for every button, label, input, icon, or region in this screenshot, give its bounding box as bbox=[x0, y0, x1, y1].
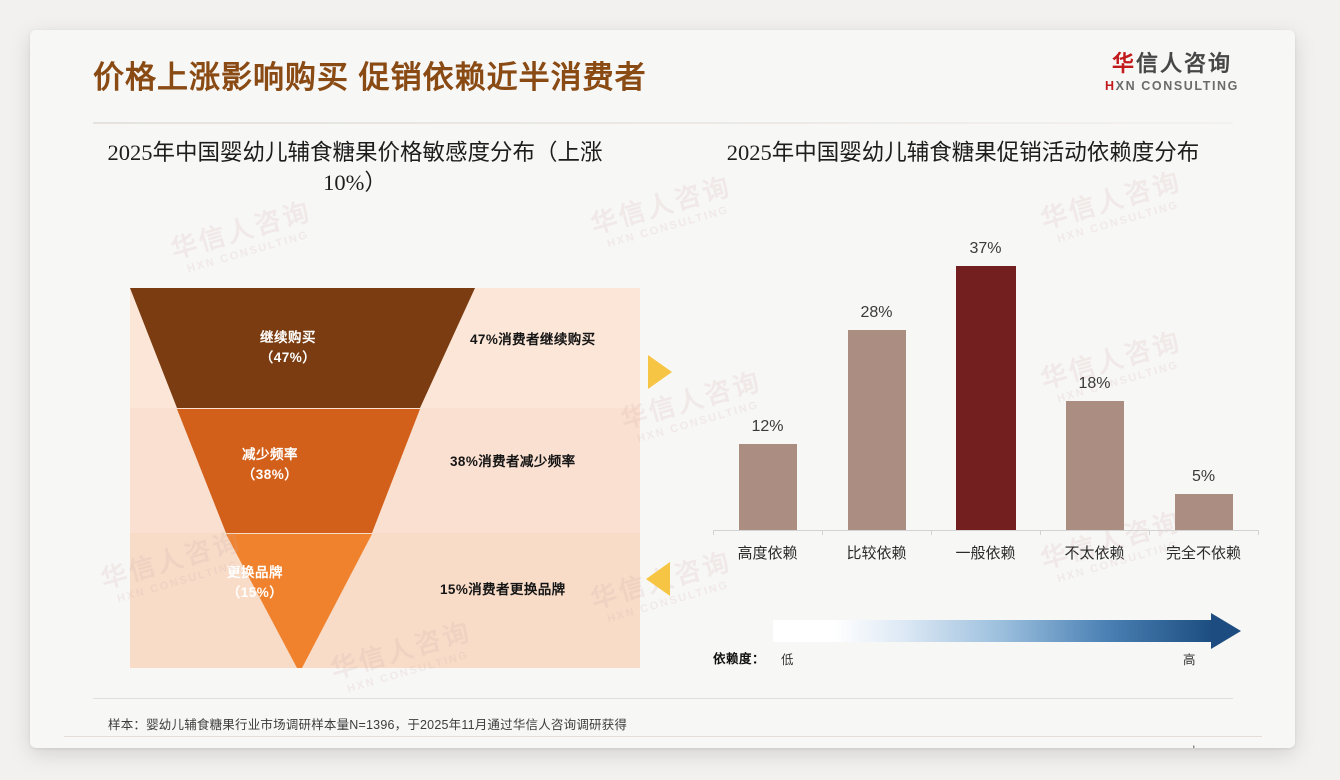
x-axis-tick bbox=[822, 530, 823, 535]
bar-column[interactable]: 28% bbox=[822, 230, 931, 530]
x-axis-tick bbox=[1040, 530, 1041, 535]
x-axis-line bbox=[713, 530, 1258, 531]
bar-不太依赖[interactable] bbox=[1066, 401, 1124, 530]
bar-column[interactable]: 5% bbox=[1149, 230, 1258, 530]
right-chart-title: 2025年中国婴幼儿辅食糖果促销活动依赖度分布 bbox=[658, 138, 1268, 168]
header-divider bbox=[93, 122, 1233, 124]
x-axis-tick bbox=[713, 530, 714, 535]
play-triangle-right-icon bbox=[648, 355, 672, 389]
brand-logo: 华信人咨询 HXN CONSULTING bbox=[1105, 52, 1239, 93]
bar-chart: 12%28%37%18%5% 高度依赖比较依赖一般依赖不太依赖完全不依赖 bbox=[713, 230, 1258, 570]
website-link[interactable]: www.hxrcon.com bbox=[1163, 744, 1257, 748]
footer-divider bbox=[64, 736, 1262, 737]
logo-en-rest: XN CONSULTING bbox=[1116, 79, 1239, 93]
gradient-bar bbox=[773, 620, 1213, 642]
panel-promo-dependence: 2025年中国婴幼儿辅食糖果促销活动依赖度分布 12%28%37%18%5% 高… bbox=[658, 138, 1268, 668]
x-axis-label: 完全不依赖 bbox=[1149, 542, 1258, 563]
slide-header: 价格上涨影响购买 促销依赖近半消费者 华信人咨询 HXN CONSULTING bbox=[30, 30, 1295, 122]
x-axis-label: 高度依赖 bbox=[713, 542, 822, 563]
bar-plot-area: 12%28%37%18%5% bbox=[713, 230, 1258, 530]
bar-value-label: 28% bbox=[860, 304, 892, 322]
bar-value-label: 5% bbox=[1192, 468, 1215, 486]
bar-比较依赖[interactable] bbox=[848, 330, 906, 530]
bar-value-label: 37% bbox=[969, 240, 1001, 258]
bar-column[interactable]: 37% bbox=[931, 230, 1040, 530]
copyright-text: ©2026.1 HXR华信人咨询 bbox=[68, 744, 208, 748]
sample-note: 样本：婴幼儿辅食糖果行业市场调研样本量N=1396，于2025年11月通过华信人… bbox=[108, 714, 627, 733]
logo-cn-dark: 信人咨询 bbox=[1136, 51, 1232, 76]
gradient-arrow-head-icon bbox=[1211, 613, 1241, 649]
bar-高度依赖[interactable] bbox=[739, 444, 797, 530]
logo-cn-red: 华 bbox=[1112, 51, 1136, 76]
bar-value-label: 18% bbox=[1078, 375, 1110, 393]
x-axis-tick bbox=[1258, 530, 1259, 535]
left-chart-title: 2025年中国婴幼儿辅食糖果价格敏感度分布（上涨10%） bbox=[65, 138, 645, 199]
bar-column[interactable]: 18% bbox=[1040, 230, 1149, 530]
x-axis-tick bbox=[931, 530, 932, 535]
page-title: 价格上涨影响购买 促销依赖近半消费者 bbox=[93, 52, 647, 97]
bar-完全不依赖[interactable] bbox=[1175, 494, 1233, 530]
x-axis-label: 一般依赖 bbox=[931, 542, 1040, 563]
bar-value-label: 12% bbox=[751, 418, 783, 436]
dependence-gradient-legend: 依赖度： 低 高 bbox=[713, 616, 1265, 672]
slide-card: 华信人咨询 HXN CONSULTING 华信人咨询 HXN CONSULTIN… bbox=[30, 30, 1295, 748]
bar-column[interactable]: 12% bbox=[713, 230, 822, 530]
logo-en-red: H bbox=[1105, 79, 1116, 93]
sample-divider bbox=[93, 698, 1233, 699]
play-triangle-left-icon bbox=[646, 562, 670, 596]
logo-english: HXN CONSULTING bbox=[1105, 79, 1239, 93]
logo-chinese: 华信人咨询 bbox=[1105, 52, 1239, 76]
legend-low-label: 低 bbox=[781, 649, 794, 668]
panel-price-sensitivity: 2025年中国婴幼儿辅食糖果价格敏感度分布（上涨10%） bbox=[65, 138, 645, 668]
x-axis-label: 不太依赖 bbox=[1040, 542, 1149, 563]
x-axis-label: 比较依赖 bbox=[822, 542, 931, 563]
bar-一般依赖[interactable] bbox=[956, 266, 1016, 530]
legend-high-label: 高 bbox=[1183, 649, 1196, 668]
legend-label: 依赖度： bbox=[713, 648, 765, 667]
x-axis-tick bbox=[1149, 530, 1150, 535]
